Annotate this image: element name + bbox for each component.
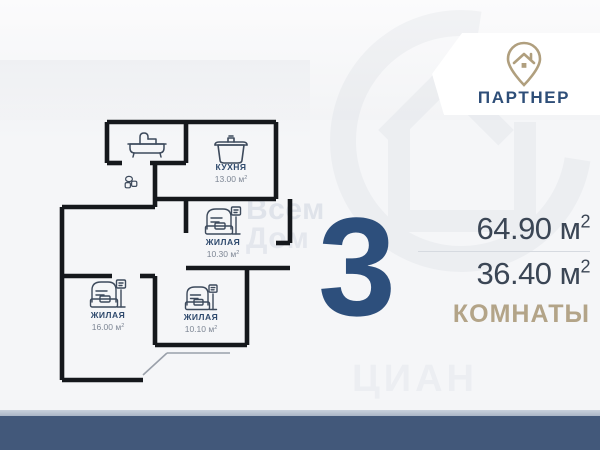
summary-block: 3 64.90 м2 36.40 м2 КОМНАТЫ [318, 203, 588, 353]
living-area-value: 36.40 [476, 256, 551, 291]
room-label-living-2: ЖИЛАЯ [90, 310, 126, 320]
total-area-value: 64.90 [476, 211, 551, 246]
rooms-word: КОМНАТЫ [418, 300, 590, 329]
toilet-icon [125, 176, 137, 187]
sofa-lamp-icon [186, 285, 218, 310]
footer-bar [0, 416, 600, 450]
rooms-count: 3 [318, 197, 392, 337]
sofa-lamp-icon [206, 207, 241, 234]
living-area: 36.40 м2 [418, 256, 590, 292]
room-label-living-3: ЖИЛАЯ [183, 312, 219, 322]
total-area: 64.90 м2 [418, 211, 590, 247]
bathtub-icon [128, 133, 166, 157]
sofa-lamp-icon [91, 280, 126, 307]
cooking-pot-icon [215, 136, 247, 163]
area-divider [418, 251, 590, 252]
room-area-living-3: 10.10 м2 [185, 324, 218, 334]
floorplan-card: Всем Дом ЦИАН [0, 0, 600, 450]
partner-name: ПАРТНЕР [478, 88, 570, 108]
room-label-living-1: ЖИЛАЯ [205, 237, 241, 247]
room-area-kitchen: 13.00 м2 [215, 174, 248, 184]
areas-group: 64.90 м2 36.40 м2 [418, 211, 590, 292]
walls [62, 122, 290, 380]
total-area-unit: м [560, 211, 581, 246]
balcony-outline [143, 353, 230, 375]
living-area-unit-exp: 2 [580, 257, 590, 277]
map-pin-house-icon [504, 41, 544, 87]
room-area-living-2: 16.00 м2 [92, 322, 125, 332]
room-area-living-1: 10.30 м2 [207, 249, 240, 259]
partner-badge: ПАРТНЕР [432, 33, 600, 115]
total-area-unit-exp: 2 [580, 212, 590, 232]
living-area-unit: м [560, 256, 581, 291]
room-label-kitchen: КУХНЯ [215, 162, 246, 172]
